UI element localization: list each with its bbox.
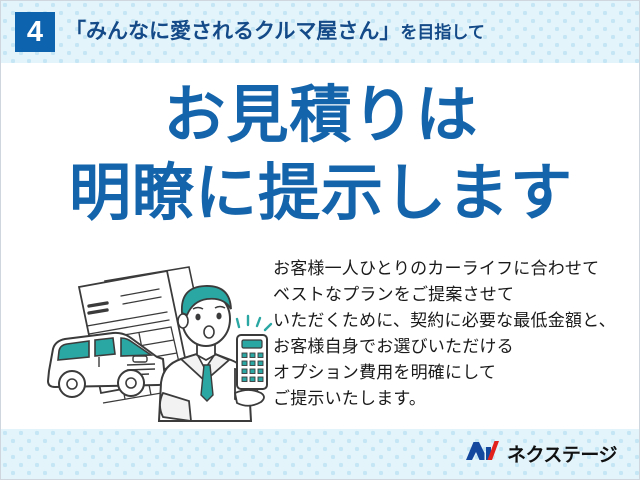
brand-logo-text: ネクステージ — [507, 440, 617, 467]
promo-banner: 4 「みんなに愛されるクルマ屋さん」を目指して お見積りは 明瞭に提示します — [0, 0, 640, 480]
illustration — [39, 253, 275, 425]
body-copy-line: ご提示いたします。 — [273, 386, 616, 412]
header-title: 「みんなに愛されるクルマ屋さん」を目指して — [65, 18, 485, 47]
body-copy-line: いただくために、契約に必要な最低金額と、 — [273, 308, 616, 334]
body-copy: お客様一人ひとりのカーライフに合わせて ベストなプランをご提案させて いただくた… — [273, 256, 616, 412]
nextage-n-mark-icon — [466, 440, 500, 467]
header-title-rest: を目指して — [400, 23, 485, 42]
calculator-icon — [237, 335, 267, 389]
header-title-quoted: 「みんなに愛されるクルマ屋さん」 — [65, 20, 400, 43]
section-number-badge: 4 — [15, 12, 55, 52]
body-copy-line: お客様自身でお選びいただける — [273, 334, 616, 360]
brand-logo: ネクステージ — [466, 440, 617, 467]
body-copy-line: ベストなプランをご提案させて — [273, 282, 616, 308]
headline-line-1: お見積りは — [1, 85, 640, 147]
sparkle-icon — [237, 316, 271, 330]
body-copy-line: オプション費用を明確にして — [273, 360, 616, 386]
body-copy-line: お客様一人ひとりのカーライフに合わせて — [273, 256, 616, 282]
headline: お見積りは 明瞭に提示します — [1, 85, 640, 225]
headline-line-2: 明瞭に提示します — [1, 163, 640, 225]
